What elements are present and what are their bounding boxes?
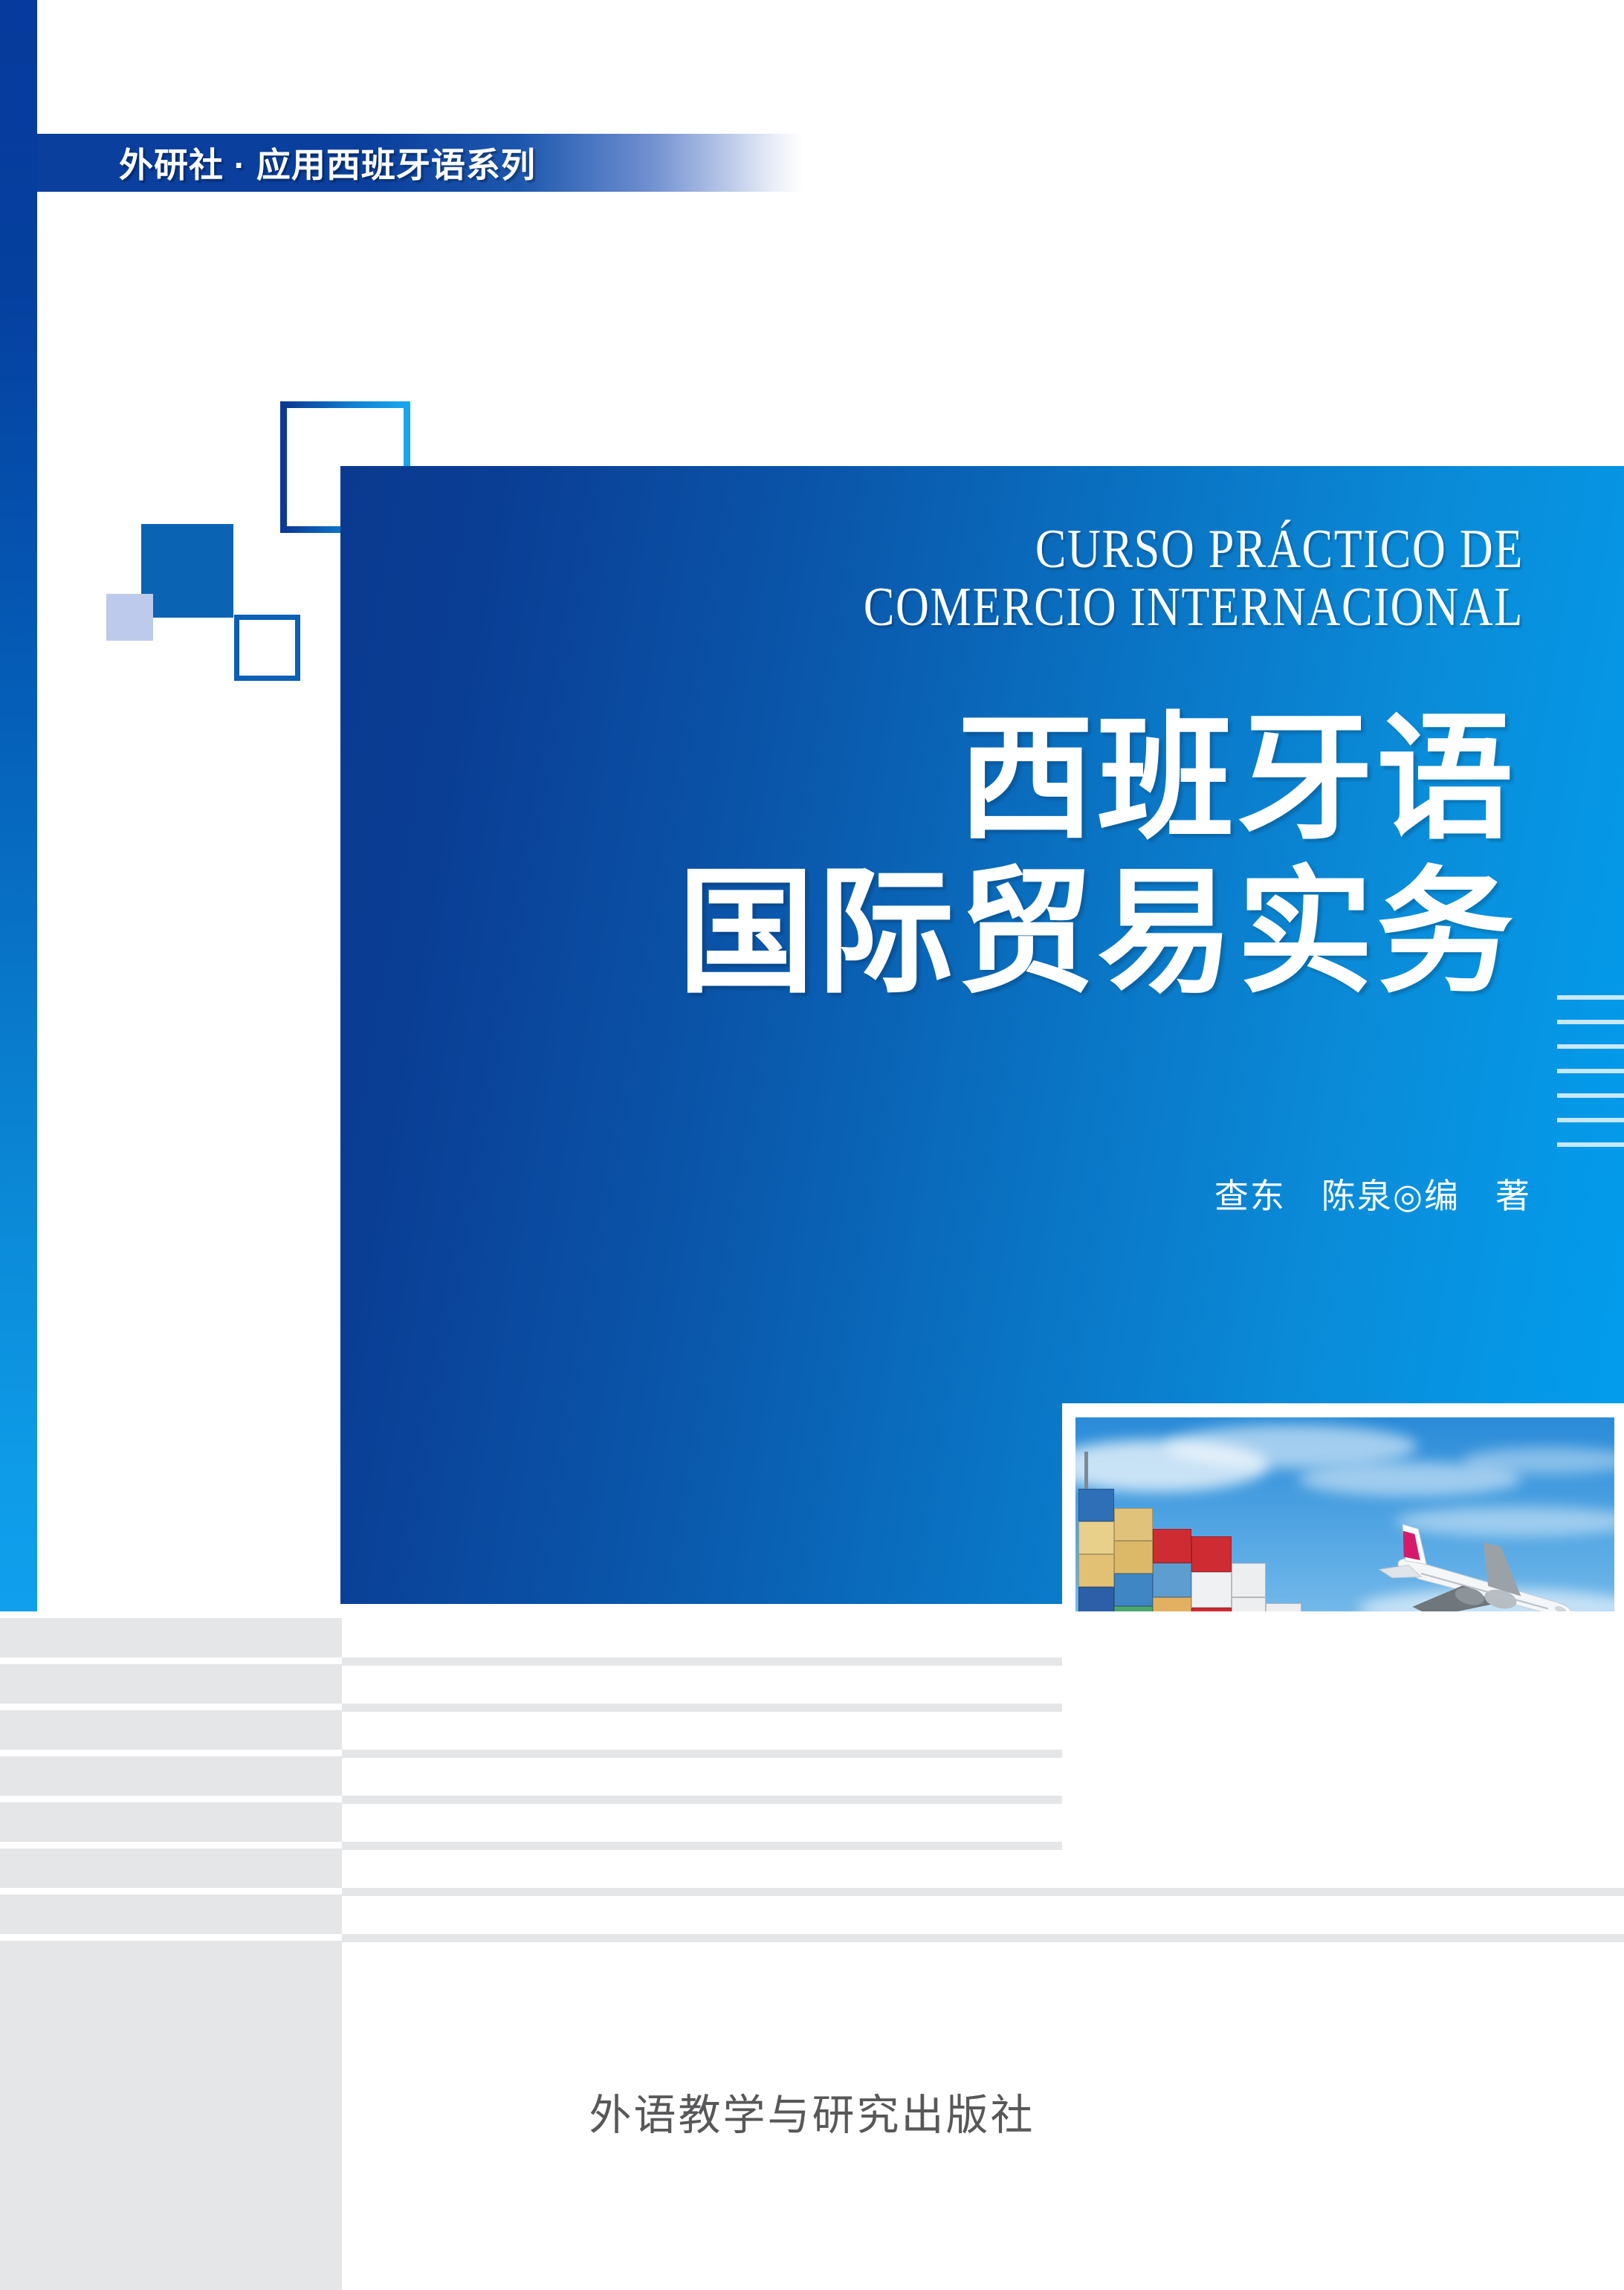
stripe-column-left — [0, 1611, 342, 2290]
author-line: 查东 陈泉◎编 著 — [743, 1169, 1531, 1218]
book-cover: 外研社 · 应用西班牙语系列 CURSO PRÁCTICO DE COMERCI… — [0, 0, 1624, 2290]
publisher-name: 外语教学与研究出版社 — [0, 2081, 1624, 2142]
series-banner-label: 外研社 · 应用西班牙语系列 — [119, 138, 536, 187]
ship-mast-icon — [1084, 1452, 1088, 1490]
chinese-title: 西班牙语 国际贸易实务 — [320, 702, 1516, 1010]
chinese-title-line-2: 国际贸易实务 — [320, 856, 1516, 1010]
left-gradient-bar — [0, 0, 37, 1611]
filled-square-mid-decor — [141, 524, 233, 618]
spanish-title: CURSO PRÁCTICO DE COMERCIO INTERNACIONAL — [569, 520, 1524, 636]
pale-square-decor — [106, 594, 153, 641]
spanish-title-line-1: CURSO PRÁCTICO DE — [569, 520, 1524, 578]
panel-rule-lines-decor — [1536, 995, 1624, 1153]
outlined-square-small-decor — [234, 615, 300, 681]
chinese-title-line-1: 西班牙语 — [320, 702, 1516, 856]
spanish-title-line-2: COMERCIO INTERNACIONAL — [569, 578, 1524, 636]
photo-stripe-mask — [1062, 1611, 1624, 1864]
bottom-stripe-field — [0, 1611, 1624, 2290]
